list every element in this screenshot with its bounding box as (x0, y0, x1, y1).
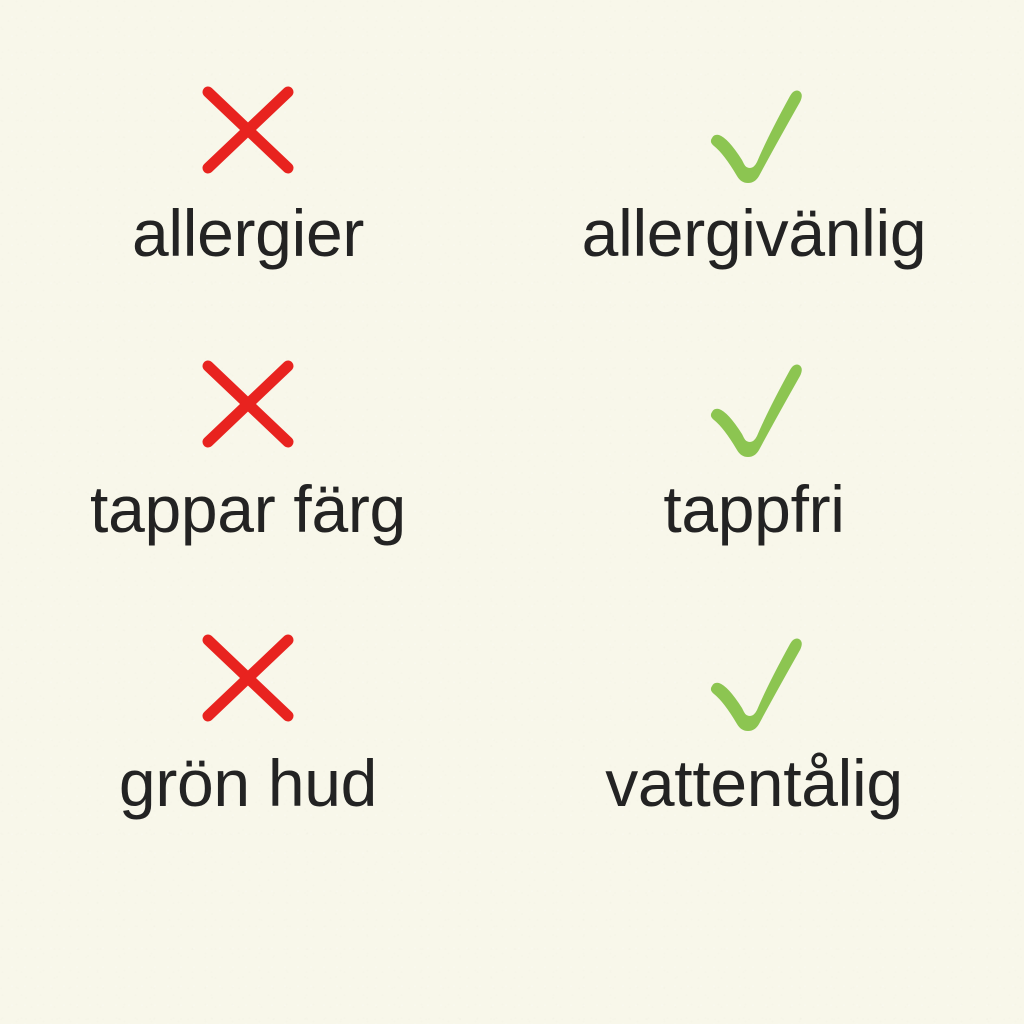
comparison-label: allergivänlig (582, 200, 927, 266)
cross-icon (200, 352, 296, 456)
comparison-item-negative-2: tappar färg (0, 352, 504, 626)
check-icon (700, 78, 808, 182)
comparison-item-positive-3: vattentålig (498, 626, 1010, 900)
comparison-item-positive-2: tappfri (498, 352, 1010, 626)
comparison-grid: allergier allergivänlig tappar färg (0, 0, 1024, 1024)
check-icon (700, 626, 808, 730)
comparison-label: allergier (132, 200, 364, 266)
comparison-item-negative-1: allergier (0, 78, 504, 352)
cross-icon (200, 626, 296, 730)
comparison-label: tappfri (663, 476, 844, 542)
comparison-label: tappar färg (90, 476, 406, 542)
cross-icon (200, 78, 296, 182)
comparison-item-negative-3: grön hud (0, 626, 504, 900)
comparison-label: vattentålig (605, 750, 903, 816)
comparison-item-positive-1: allergivänlig (498, 78, 1010, 352)
comparison-label: grön hud (119, 750, 377, 816)
check-icon (700, 352, 808, 456)
